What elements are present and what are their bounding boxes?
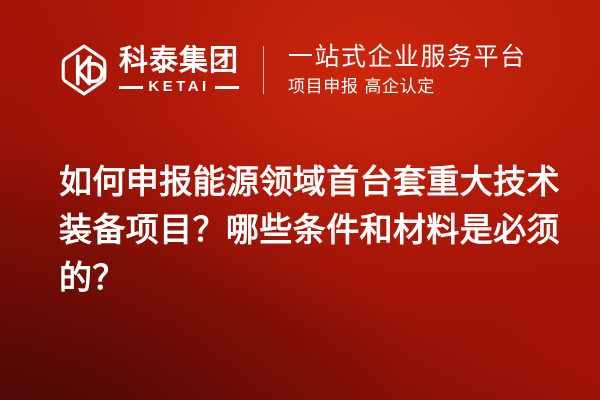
brand-rule-left <box>119 86 143 89</box>
article-headline: 如何申报能源领域首台套重大技术装备项目？哪些条件和材料是必须的？ <box>59 158 561 302</box>
banner-header: 科泰集团 KETAI 一站式企业服务平台 项目申报 高企认定 <box>0 0 600 140</box>
brand-wordmark: 科泰集团 KETAI <box>119 45 239 95</box>
tagline-primary: 一站式企业服务平台 <box>288 43 527 71</box>
brand-rule-right <box>215 86 239 89</box>
tagline-block: 一站式企业服务平台 项目申报 高企认定 <box>288 43 527 98</box>
brand-name-en-row: KETAI <box>119 79 239 95</box>
brand-name-en: KETAI <box>148 79 209 95</box>
brand-lockup[interactable]: 科泰集团 KETAI <box>58 44 239 96</box>
header-divider <box>263 46 264 94</box>
promo-banner: 科泰集团 KETAI 一站式企业服务平台 项目申报 高企认定 如何申报能源领域首… <box>0 0 600 400</box>
tagline-secondary: 项目申报 高企认定 <box>288 76 527 98</box>
ketai-logo-icon <box>58 44 110 96</box>
brand-name-cn: 科泰集团 <box>119 45 239 76</box>
